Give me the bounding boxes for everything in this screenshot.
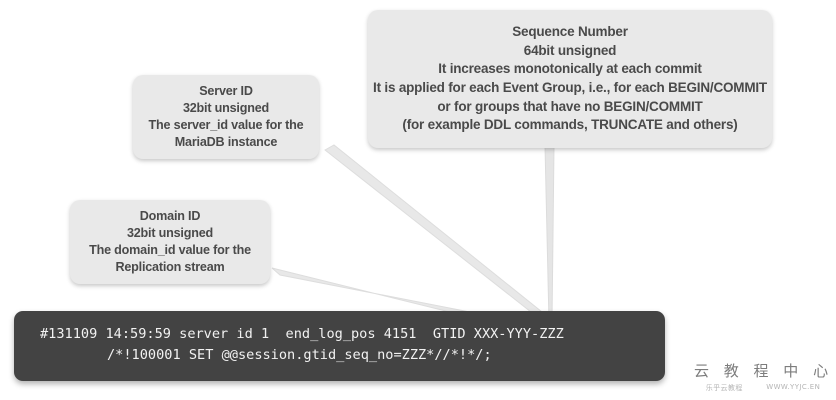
- watermark-subtitle: 乐乎云教程 WWW.YYJC.EN: [694, 383, 832, 393]
- callout-sequence-line-4: It is applied for each Event Group, i.e.…: [373, 79, 767, 98]
- connector-domain: [272, 268, 470, 317]
- diagram-canvas: Sequence Number 64bit unsigned It increa…: [0, 0, 836, 400]
- code-line-gtid-seq-no: /*!100001 SET @@session.gtid_seq_no=ZZZ*…: [14, 345, 665, 366]
- callout-sequence-number: Sequence Number 64bit unsigned It increa…: [368, 10, 772, 148]
- watermark-title: 云 教 程 中 心: [694, 360, 832, 381]
- callout-domain-id: Domain ID 32bit unsigned The domain_id v…: [70, 200, 270, 284]
- callout-domain-line-2: 32bit unsigned: [127, 225, 213, 242]
- callout-domain-line-3: The domain_id value for the: [89, 242, 251, 259]
- callout-server-line-3: The server_id value for the: [149, 117, 304, 134]
- code-line-gtid-header: #131109 14:59:59 server id 1 end_log_pos…: [14, 324, 665, 345]
- callout-sequence-line-1: Sequence Number: [512, 23, 628, 42]
- callout-sequence-line-5: or for groups that have no BEGIN/COMMIT: [437, 98, 702, 117]
- callout-server-line-4: MariaDB instance: [175, 134, 277, 151]
- watermark-sub-right: WWW.YYJC.EN: [766, 383, 820, 393]
- watermark: 云 教 程 中 心 乐乎云教程 WWW.YYJC.EN: [694, 360, 832, 393]
- callout-server-id: Server ID 32bit unsigned The server_id v…: [133, 75, 319, 159]
- callout-sequence-line-2: 64bit unsigned: [524, 42, 616, 61]
- watermark-sub-left: 乐乎云教程: [706, 383, 743, 393]
- binlog-code-block: #131109 14:59:59 server id 1 end_log_pos…: [14, 311, 665, 381]
- connector-sequence: [545, 146, 554, 322]
- callout-domain-line-4: Replication stream: [115, 259, 224, 276]
- callout-sequence-line-3: It increases monotonically at each commi…: [438, 60, 701, 79]
- callout-server-line-1: Server ID: [199, 83, 253, 100]
- callout-sequence-line-6: (for example DDL commands, TRUNCATE and …: [402, 116, 737, 135]
- callout-domain-line-1: Domain ID: [140, 208, 200, 225]
- connector-server: [325, 145, 552, 323]
- callout-server-line-2: 32bit unsigned: [183, 100, 269, 117]
